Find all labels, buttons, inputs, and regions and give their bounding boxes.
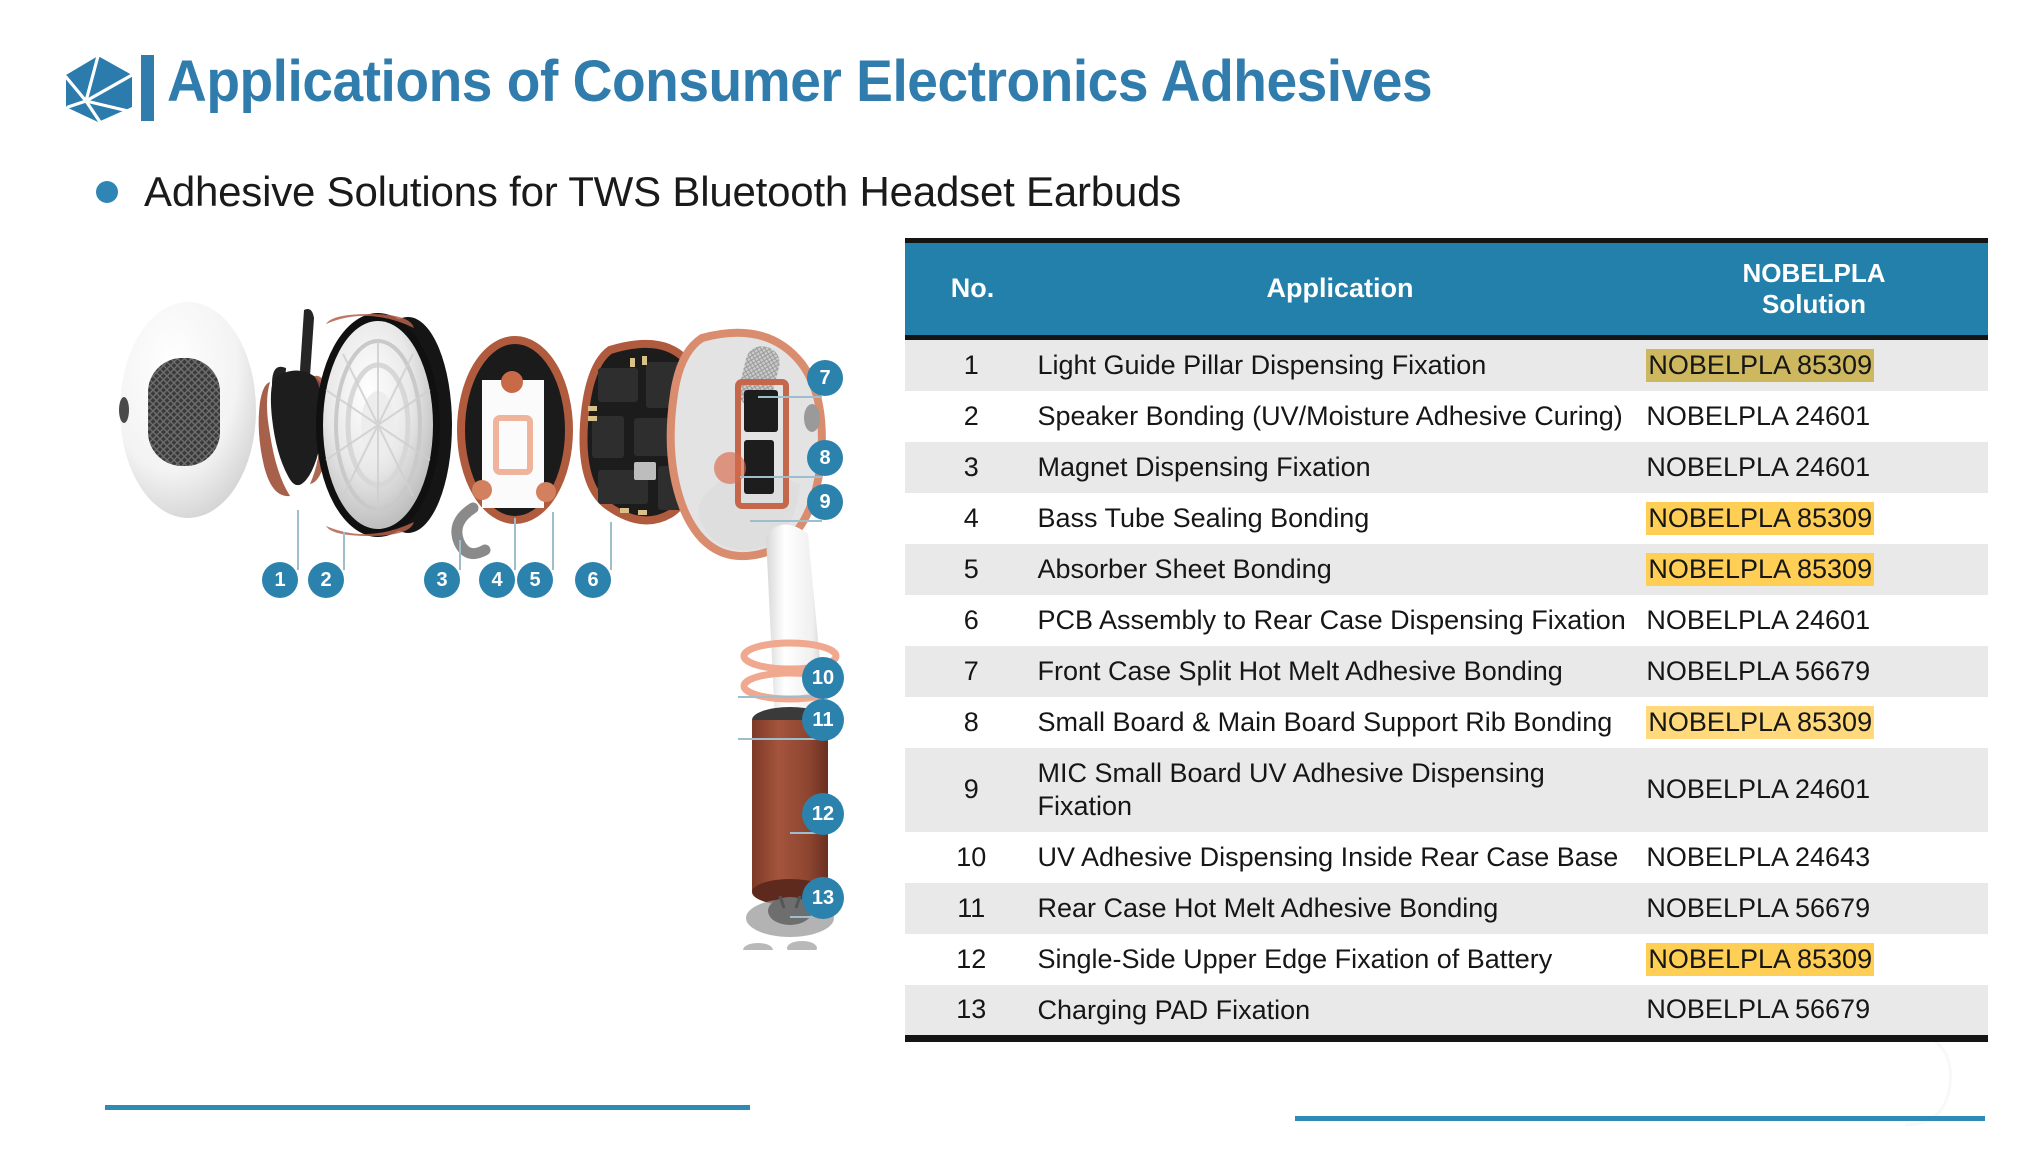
- callout-badge-7: 7: [807, 360, 843, 396]
- cell-no: 5: [905, 544, 1038, 595]
- solution-highlight: NOBELPLA 85309: [1646, 943, 1874, 976]
- cell-no: 6: [905, 595, 1038, 646]
- logo-accent-bar: [141, 55, 154, 121]
- table-row: 3Magnet Dispensing FixationNOBELPLA 2460…: [905, 442, 1988, 493]
- cell-application: Charging PAD Fixation: [1038, 985, 1643, 1036]
- cell-application: Light Guide Pillar Dispensing Fixation: [1038, 340, 1643, 391]
- cell-application: Magnet Dispensing Fixation: [1038, 442, 1643, 493]
- callout-badge-5: 5: [517, 562, 553, 598]
- cell-solution: NOBELPLA 56679: [1642, 985, 1988, 1036]
- table-row: 13Charging PAD FixationNOBELPLA 56679: [905, 985, 1988, 1036]
- cell-no: 7: [905, 646, 1038, 697]
- table-header-row: No. Application NOBELPLA Solution: [905, 243, 1988, 335]
- leader-line: [610, 522, 612, 570]
- solution-highlight: NOBELPLA 85309: [1646, 553, 1874, 586]
- leader-line: [343, 532, 345, 570]
- cell-solution: NOBELPLA 56679: [1642, 646, 1988, 697]
- page-header: Applications of Consumer Electronics Adh…: [0, 0, 2030, 150]
- cell-no: 3: [905, 442, 1038, 493]
- faceted-hexagon-logo-icon: [62, 55, 134, 123]
- page-title: Applications of Consumer Electronics Adh…: [167, 48, 1432, 115]
- subtitle-row: Adhesive Solutions for TWS Bluetooth Hea…: [96, 168, 1181, 216]
- leader-line: [750, 520, 822, 522]
- callout-badge-8: 8: [807, 440, 843, 476]
- cell-no: 12: [905, 934, 1038, 985]
- table-bottom-border: [905, 1035, 1988, 1042]
- cell-solution: NOBELPLA 85309: [1642, 340, 1988, 391]
- table-row: 1Light Guide Pillar Dispensing FixationN…: [905, 340, 1988, 391]
- cell-no: 11: [905, 883, 1038, 934]
- callout-badge-6: 6: [575, 562, 611, 598]
- table-row: 6PCB Assembly to Rear Case Dispensing Fi…: [905, 595, 1988, 646]
- callout-badge-4: 4: [479, 562, 515, 598]
- cell-solution: NOBELPLA 24601: [1642, 748, 1988, 832]
- leader-line: [552, 512, 554, 570]
- cell-application: UV Adhesive Dispensing Inside Rear Case …: [1038, 832, 1643, 883]
- table-row: 9MIC Small Board UV Adhesive Dispensing …: [905, 748, 1988, 832]
- column-header-application: Application: [1040, 243, 1640, 335]
- cell-no: 4: [905, 493, 1038, 544]
- cell-solution: NOBELPLA 85309: [1642, 493, 1988, 544]
- speaker-driver-part: [316, 313, 452, 537]
- cell-solution: NOBELPLA 85309: [1642, 544, 1988, 595]
- table-row: 12Single-Side Upper Edge Fixation of Bat…: [905, 934, 1988, 985]
- table-row: 7Front Case Split Hot Melt Adhesive Bond…: [905, 646, 1988, 697]
- column-header-no: No.: [905, 243, 1040, 335]
- callout-badge-11: 11: [802, 699, 844, 741]
- table-row: 4Bass Tube Sealing BondingNOBELPLA 85309: [905, 493, 1988, 544]
- cell-solution: NOBELPLA 24601: [1642, 442, 1988, 493]
- cell-application: Absorber Sheet Bonding: [1038, 544, 1643, 595]
- cell-no: 1: [905, 340, 1038, 391]
- leader-line: [297, 510, 299, 570]
- rear-case-part: [671, 333, 828, 768]
- cell-solution: NOBELPLA 85309: [1642, 934, 1988, 985]
- callout-badge-12: 12: [802, 793, 844, 835]
- earbud-exploded-diagram: 12345678910111213: [90, 250, 870, 950]
- callout-badge-10: 10: [802, 657, 844, 699]
- cell-application: Bass Tube Sealing Bonding: [1038, 493, 1643, 544]
- footer-rule-left: [105, 1105, 750, 1110]
- cell-application: PCB Assembly to Rear Case Dispensing Fix…: [1038, 595, 1643, 646]
- column-header-solution-line1: NOBELPLA: [1743, 258, 1886, 289]
- leader-line: [514, 518, 516, 570]
- column-header-solution-line2: Solution: [1743, 289, 1886, 320]
- table-row: 8Small Board & Main Board Support Rib Bo…: [905, 697, 1988, 748]
- cell-application: Front Case Split Hot Melt Adhesive Bondi…: [1038, 646, 1643, 697]
- table-body: 1Light Guide Pillar Dispensing FixationN…: [905, 340, 1988, 1035]
- cell-application: Single-Side Upper Edge Fixation of Batte…: [1038, 934, 1643, 985]
- leader-line: [738, 696, 822, 698]
- callout-badge-3: 3: [424, 562, 460, 598]
- footer-rule-right: [1295, 1116, 1985, 1121]
- cell-no: 9: [905, 748, 1038, 832]
- callout-badge-9: 9: [807, 484, 843, 520]
- subtitle-text: Adhesive Solutions for TWS Bluetooth Hea…: [144, 168, 1181, 216]
- cell-no: 2: [905, 391, 1038, 442]
- front-cap-part: [119, 302, 256, 518]
- adhesive-solutions-table: No. Application NOBELPLA Solution 1Light…: [905, 238, 1988, 1042]
- cell-application: Rear Case Hot Melt Adhesive Bonding: [1038, 883, 1643, 934]
- table-row: 2Speaker Bonding (UV/Moisture Adhesive C…: [905, 391, 1988, 442]
- table-row: 11Rear Case Hot Melt Adhesive BondingNOB…: [905, 883, 1988, 934]
- column-header-solution: NOBELPLA Solution: [1640, 243, 1988, 335]
- leader-line: [740, 476, 822, 478]
- callout-badge-1: 1: [262, 562, 298, 598]
- cell-solution: NOBELPLA 24601: [1642, 595, 1988, 646]
- cell-application: Small Board & Main Board Support Rib Bon…: [1038, 697, 1643, 748]
- cell-no: 10: [905, 832, 1038, 883]
- cell-solution: NOBELPLA 85309: [1642, 697, 1988, 748]
- cell-solution: NOBELPLA 24643: [1642, 832, 1988, 883]
- solution-highlight: NOBELPLA 85309: [1646, 706, 1874, 739]
- cell-application: Speaker Bonding (UV/Moisture Adhesive Cu…: [1038, 391, 1643, 442]
- earbud-illustration: [90, 250, 870, 950]
- table-row: 5Absorber Sheet BondingNOBELPLA 85309: [905, 544, 1988, 595]
- leader-line: [758, 396, 822, 398]
- leader-line: [459, 540, 461, 570]
- cell-no: 8: [905, 697, 1038, 748]
- solution-highlight: NOBELPLA 85309: [1646, 502, 1874, 535]
- callout-badge-13: 13: [802, 877, 844, 919]
- cell-no: 13: [905, 985, 1038, 1036]
- bullet-dot-icon: [96, 181, 118, 203]
- solution-highlight: NOBELPLA 85309: [1646, 349, 1874, 382]
- leader-line: [738, 738, 822, 740]
- cell-solution: NOBELPLA 56679: [1642, 883, 1988, 934]
- cell-solution: NOBELPLA 24601: [1642, 391, 1988, 442]
- callout-badge-2: 2: [308, 562, 344, 598]
- table-row: 10UV Adhesive Dispensing Inside Rear Cas…: [905, 832, 1988, 883]
- cell-application: MIC Small Board UV Adhesive Dispensing F…: [1038, 748, 1643, 832]
